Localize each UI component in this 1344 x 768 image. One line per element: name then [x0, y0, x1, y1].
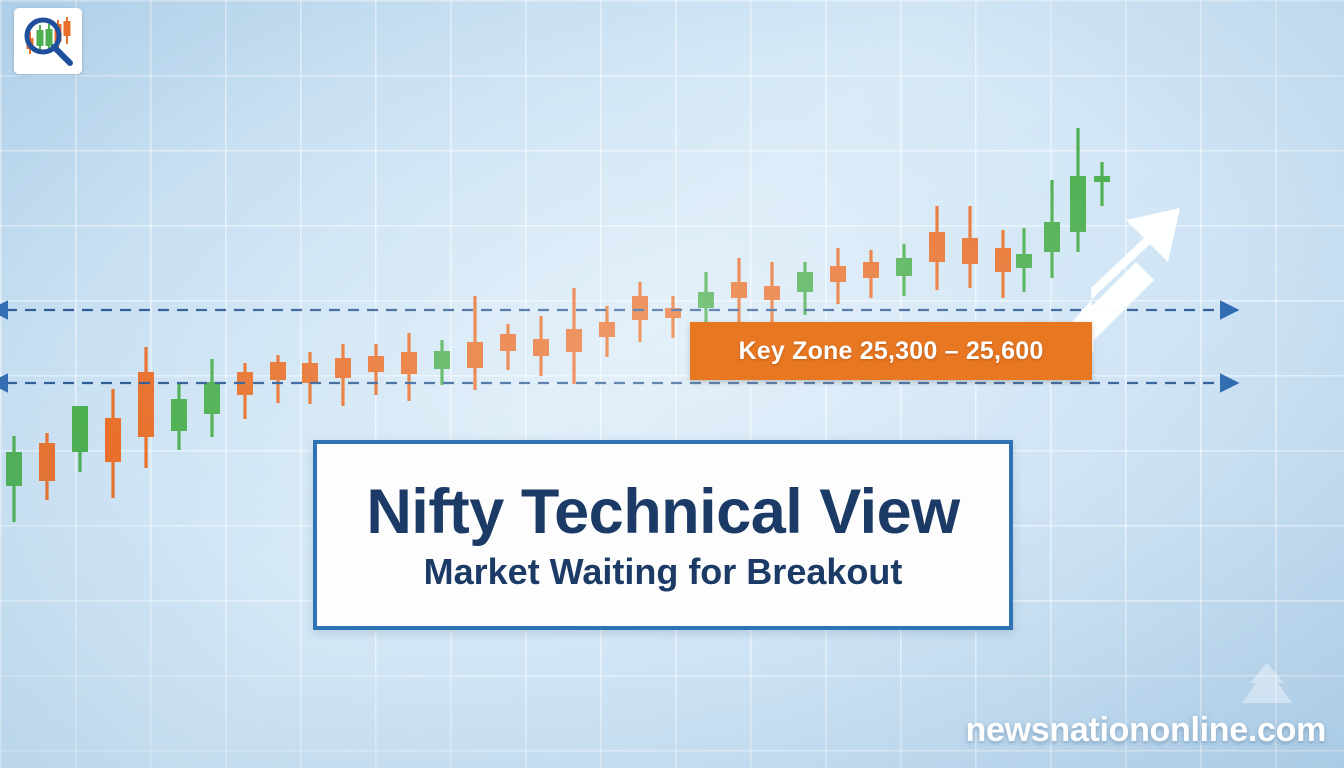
candle-body	[863, 262, 879, 278]
candle-body	[335, 358, 351, 378]
candlestick-chart	[0, 0, 1344, 768]
candle-body	[896, 258, 912, 276]
candle-body	[1044, 222, 1060, 252]
candle-body	[764, 286, 780, 300]
candle-body	[599, 322, 615, 337]
candle-body	[6, 452, 22, 486]
title-card: Nifty Technical View Market Waiting for …	[313, 440, 1013, 630]
magnifier-candlestick-icon	[14, 8, 82, 74]
candle-body	[830, 266, 846, 282]
candle-body	[1016, 254, 1032, 268]
candle-body	[929, 232, 945, 262]
candle-body	[138, 372, 154, 437]
candle-body	[368, 356, 384, 372]
candle-body	[566, 329, 582, 352]
infographic-canvas: Key Zone 25,300 – 25,600 Nifty Technical…	[0, 0, 1344, 768]
pagoda-shape-icon	[1234, 661, 1300, 713]
key-zone-label: Key Zone 25,300 – 25,600	[739, 337, 1044, 366]
page-subtitle: Market Waiting for Breakout	[424, 554, 903, 590]
page-title: Nifty Technical View	[366, 481, 959, 544]
candle-body	[39, 443, 55, 481]
site-watermark: newsnationonline.com	[966, 711, 1326, 750]
candle-body	[105, 418, 121, 462]
key-zone-badge: Key Zone 25,300 – 25,600	[690, 322, 1092, 380]
candle-body	[171, 399, 187, 431]
candle-body	[962, 238, 978, 264]
candle-body	[204, 382, 220, 414]
candle-body	[698, 292, 714, 308]
candle-wick	[1100, 162, 1103, 206]
candle-body	[731, 282, 747, 298]
candle-body	[632, 296, 648, 320]
candle-body	[1094, 176, 1110, 182]
candle-body	[302, 363, 318, 383]
candle-body	[270, 362, 286, 380]
site-logo[interactable]	[14, 8, 82, 74]
candle-body	[72, 406, 88, 452]
candle-body	[500, 334, 516, 351]
candle-body	[401, 352, 417, 374]
candle-body	[467, 342, 483, 368]
candle-body	[1070, 176, 1086, 232]
candle-body	[434, 351, 450, 369]
candle-body	[533, 339, 549, 356]
candle-body	[797, 272, 813, 292]
candle-body	[995, 248, 1011, 272]
